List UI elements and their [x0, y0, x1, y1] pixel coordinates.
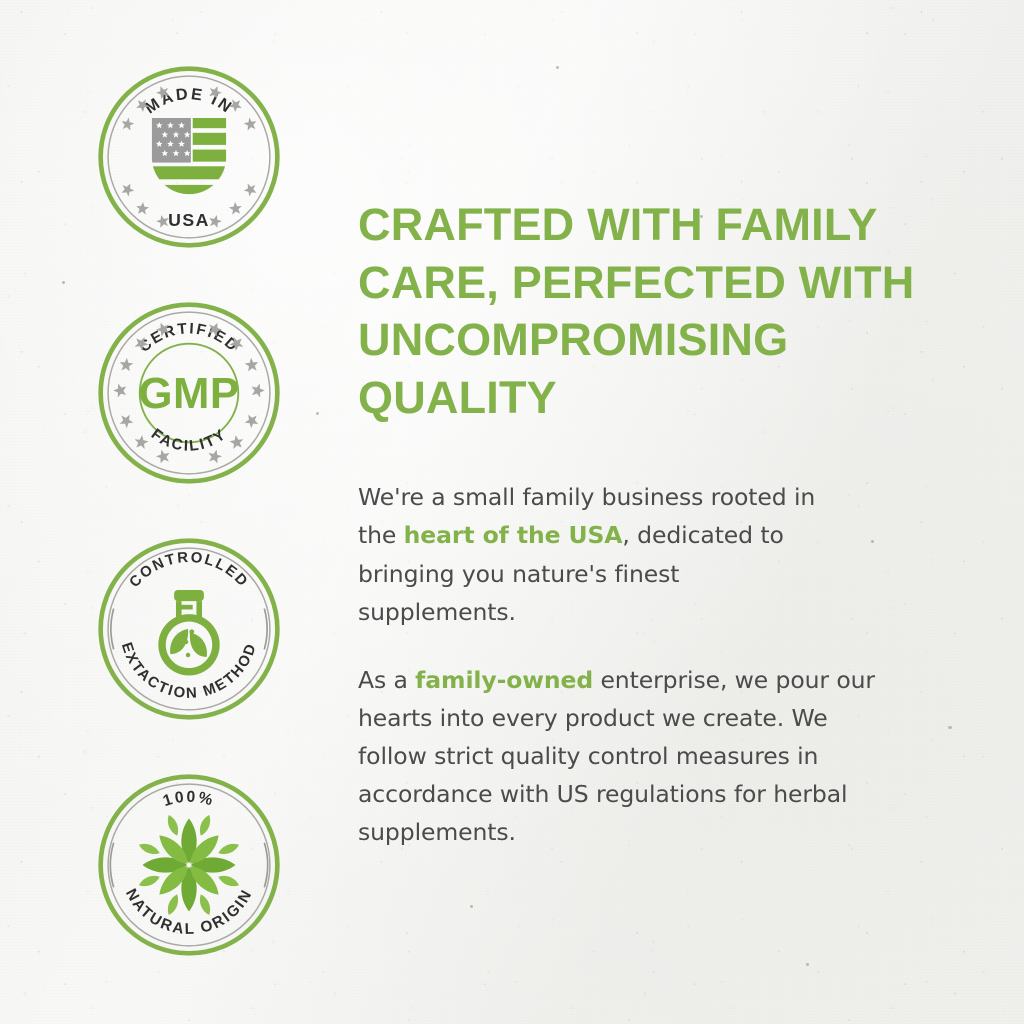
badge-side-arc-right: [264, 609, 267, 650]
texture-fleck: [948, 726, 952, 729]
badge-top-label: 100%: [161, 789, 217, 811]
badge-side-arc-left: [111, 609, 114, 650]
badge-top-label: CONTROLLED: [127, 550, 252, 591]
texture-fleck: [470, 905, 473, 908]
paragraph-2-highlight: family-owned: [415, 666, 593, 694]
body-paragraph-1: We're a small family business rooted in …: [358, 478, 828, 630]
gmp-icon: GMP: [139, 369, 240, 418]
texture-fleck: [556, 66, 559, 69]
trust-badge-list: MADE IN USA: [96, 64, 288, 1008]
badge-natural-origin: 100% NATURAL ORIGIN: [96, 772, 282, 958]
content-column: CRAFTED WITH FAMILY CARE, PERFECTED WITH…: [358, 196, 918, 851]
badge-side-arc-left: [110, 843, 113, 888]
badge-made-in-usa: MADE IN USA: [96, 64, 282, 250]
badge-top-label: MADE IN: [142, 85, 237, 117]
body-paragraph-2: As a family-owned enterprise, we pour ou…: [358, 661, 878, 851]
texture-fleck: [806, 963, 809, 966]
badge-gmp-certified-facility: CERTIFIED FACILITY: [96, 300, 282, 486]
texture-fleck: [316, 412, 319, 415]
leaf-flower-icon: [137, 813, 240, 916]
flask-leaf-icon: [158, 590, 219, 676]
page-title: CRAFTED WITH FAMILY CARE, PERFECTED WITH…: [358, 196, 918, 426]
badge-side-arc-right: [264, 843, 267, 888]
paragraph-1-highlight: heart of the USA: [404, 521, 623, 549]
badge-top-label: CERTIFIED: [136, 320, 242, 356]
badge-controlled-extraction-method: CONTROLLED EXTACTION METHOD: [96, 536, 282, 722]
badge-inner-ring: [108, 548, 270, 710]
paragraph-2-part-1: As a: [358, 666, 415, 694]
promo-panel: MADE IN USA: [0, 0, 1024, 1024]
badge-bottom-label: FACILITY: [148, 426, 230, 455]
texture-fleck: [62, 281, 65, 284]
usa-flag-icon: [150, 116, 230, 196]
badge-bottom-label: USA: [168, 210, 210, 230]
